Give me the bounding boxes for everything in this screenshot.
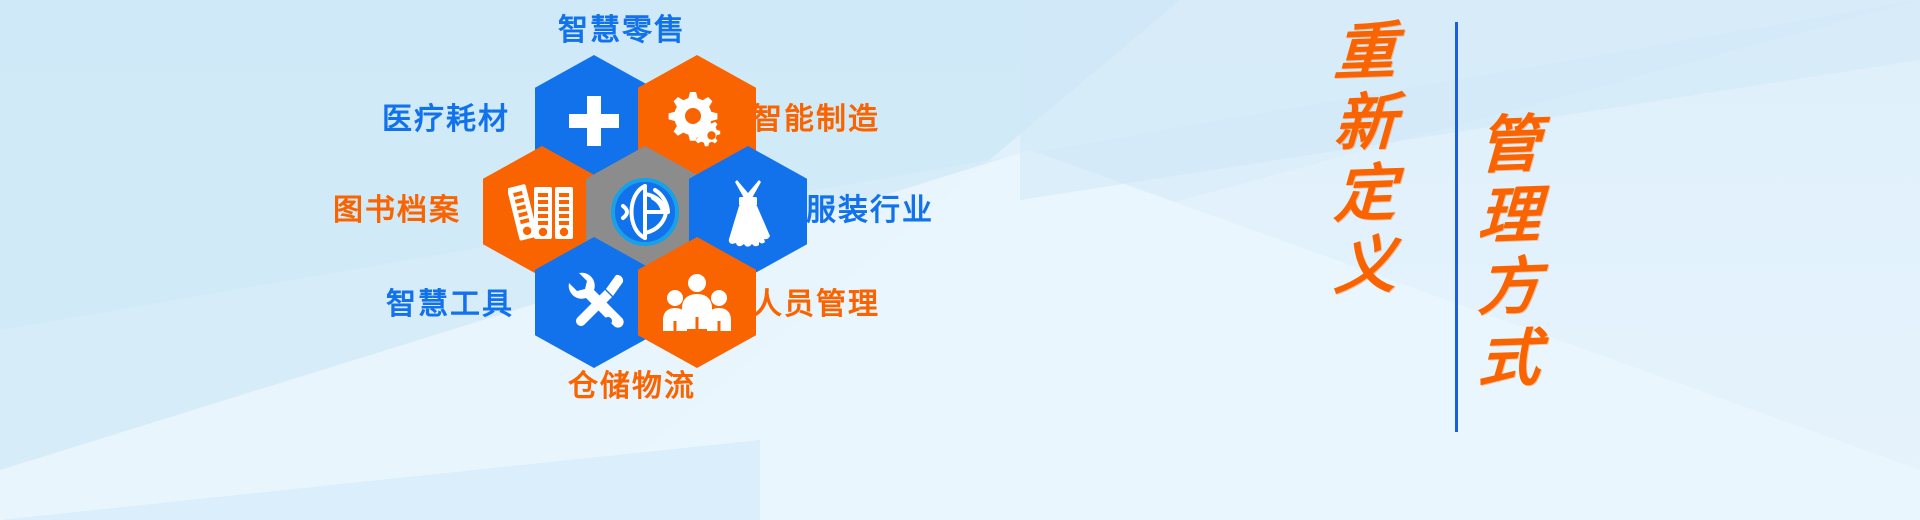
brand-logo-icon [609, 176, 681, 248]
label-smart-retail: 智慧零售 [558, 16, 686, 46]
slogan-char-1: 重 [1333, 21, 1397, 86]
promo-banner: 智慧零售 医疗耗材 智能制造 图书档案 服装行业 智慧工具 人员管理 仓储物流 … [0, 0, 1920, 520]
medical-cross-icon [565, 92, 623, 150]
label-intelligent-manufacturing: 智能制造 [752, 105, 880, 135]
slogan-column-right: 管 理 方 式 [1478, 115, 1540, 392]
label-warehouse-logistics: 仓储物流 [568, 372, 696, 402]
slogan-char-3: 定 [1333, 163, 1397, 228]
label-medical-consumables: 医疗耗材 [382, 105, 510, 135]
gears-icon [664, 90, 730, 152]
label-apparel-industry: 服装行业 [806, 196, 934, 226]
slogan-divider [1455, 22, 1458, 432]
slogan-char-6: 理 [1477, 185, 1541, 250]
wrench-screwdriver-icon [560, 269, 628, 337]
binders-archive-icon [508, 181, 576, 243]
slogan-char-4: 义 [1333, 235, 1397, 300]
slogan-column-left: 重 新 定 义 [1334, 22, 1396, 299]
slogan-block: 重 新 定 义 管 理 方 式 [1300, 0, 1600, 520]
background-layer [0, 0, 1920, 520]
slogan-char-2: 新 [1333, 92, 1397, 157]
slogan-char-8: 式 [1477, 328, 1541, 393]
label-books-archive: 图书档案 [333, 196, 461, 226]
label-personnel-management: 人员管理 [752, 290, 880, 320]
slogan-char-5: 管 [1477, 114, 1541, 179]
people-group-icon [662, 273, 732, 333]
label-smart-tools: 智慧工具 [386, 290, 514, 320]
dress-icon [717, 177, 779, 247]
slogan-char-7: 方 [1477, 256, 1541, 321]
